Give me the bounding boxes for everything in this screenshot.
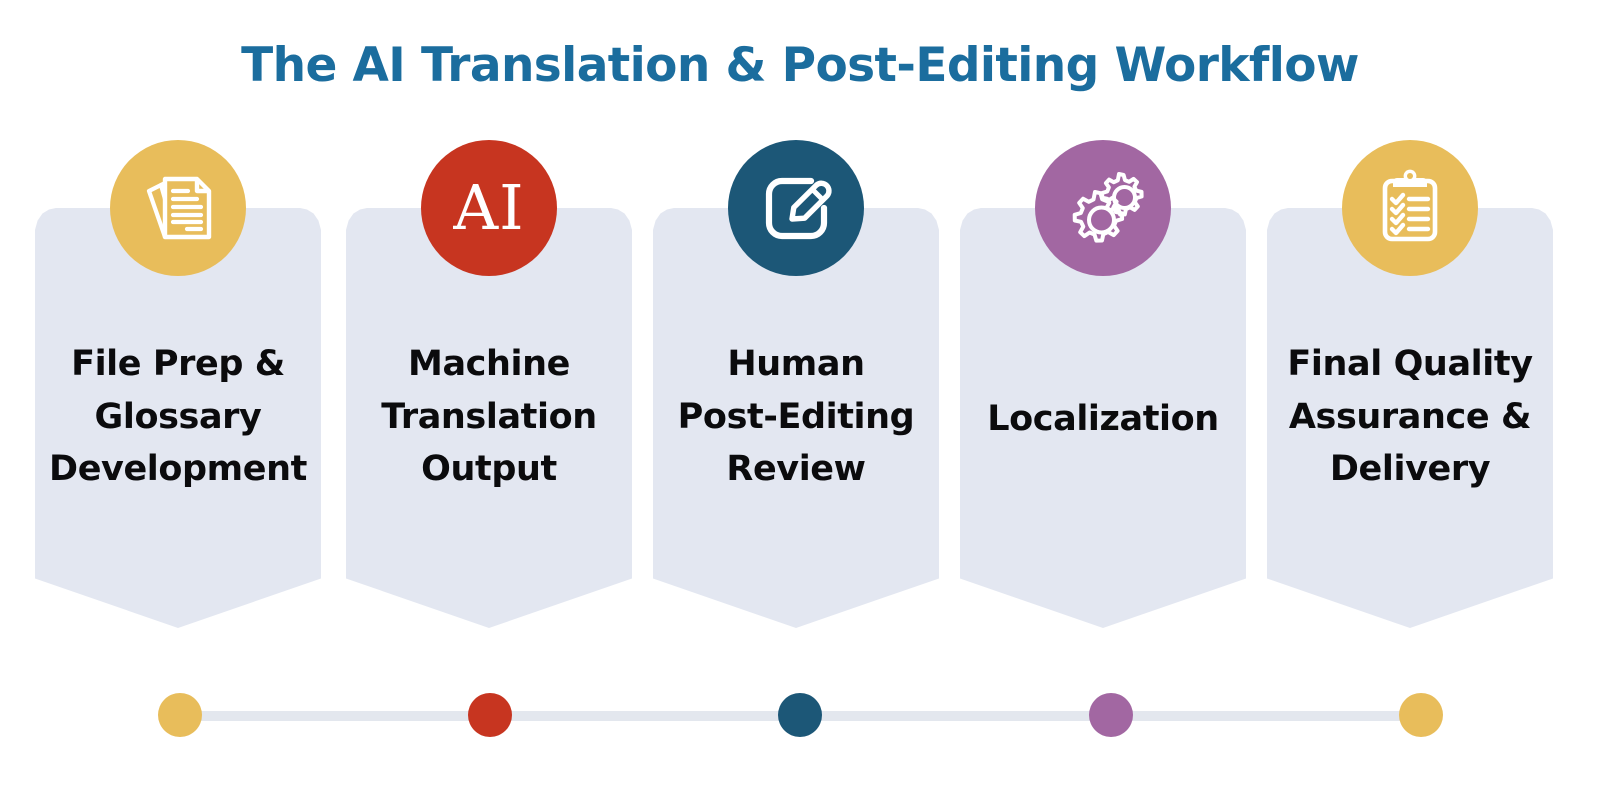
step-label-3-line1: Human	[645, 338, 947, 391]
ai-label: AI	[453, 177, 524, 239]
clipboard-checklist-icon	[1342, 140, 1478, 276]
timeline-dot-5[interactable]	[1399, 693, 1443, 737]
step-label-3: Human Post-Editing Review	[645, 338, 947, 496]
step-label-1-line2: Glossary	[27, 391, 329, 444]
step-label-3-line2: Post-Editing	[645, 391, 947, 444]
timeline-dot-4[interactable]	[1089, 693, 1133, 737]
timeline-dot-1[interactable]	[158, 693, 202, 737]
workflow-steps-row: File Prep & Glossary Development AI Mach…	[35, 208, 1565, 628]
step-label-5: Final Quality Assurance & Delivery	[1259, 338, 1561, 496]
infographic-canvas: The AI Translation & Post-Editing Workfl…	[0, 0, 1600, 800]
step-label-2-line3: Output	[338, 443, 640, 496]
documents-stack-icon	[110, 140, 246, 276]
step-label-1: File Prep & Glossary Development	[27, 338, 329, 496]
step-label-2: Machine Translation Output	[338, 338, 640, 496]
page-title: The AI Translation & Post-Editing Workfl…	[0, 38, 1600, 93]
step-label-5-line2: Assurance &	[1259, 391, 1561, 444]
workflow-step-3[interactable]: Human Post-Editing Review	[653, 208, 939, 628]
workflow-step-2[interactable]: AI Machine Translation Output	[346, 208, 632, 628]
workflow-step-5[interactable]: Final Quality Assurance & Delivery	[1267, 208, 1553, 628]
timeline-dot-2[interactable]	[468, 693, 512, 737]
step-label-4: Localization	[952, 393, 1254, 446]
step-label-2-line1: Machine	[338, 338, 640, 391]
step-label-5-line3: Delivery	[1259, 443, 1561, 496]
step-label-4-line1: Localization	[952, 393, 1254, 446]
edit-pencil-square-icon	[728, 140, 864, 276]
progress-timeline	[0, 693, 1600, 739]
workflow-step-4[interactable]: Localization	[960, 208, 1246, 628]
ai-text-icon: AI	[421, 140, 557, 276]
workflow-step-1[interactable]: File Prep & Glossary Development	[35, 208, 321, 628]
gears-cogs-icon	[1035, 140, 1171, 276]
timeline-dot-3[interactable]	[778, 693, 822, 737]
step-label-2-line2: Translation	[338, 391, 640, 444]
step-label-1-line1: File Prep &	[27, 338, 329, 391]
step-label-1-line3: Development	[27, 443, 329, 496]
step-label-3-line3: Review	[645, 443, 947, 496]
step-label-5-line1: Final Quality	[1259, 338, 1561, 391]
